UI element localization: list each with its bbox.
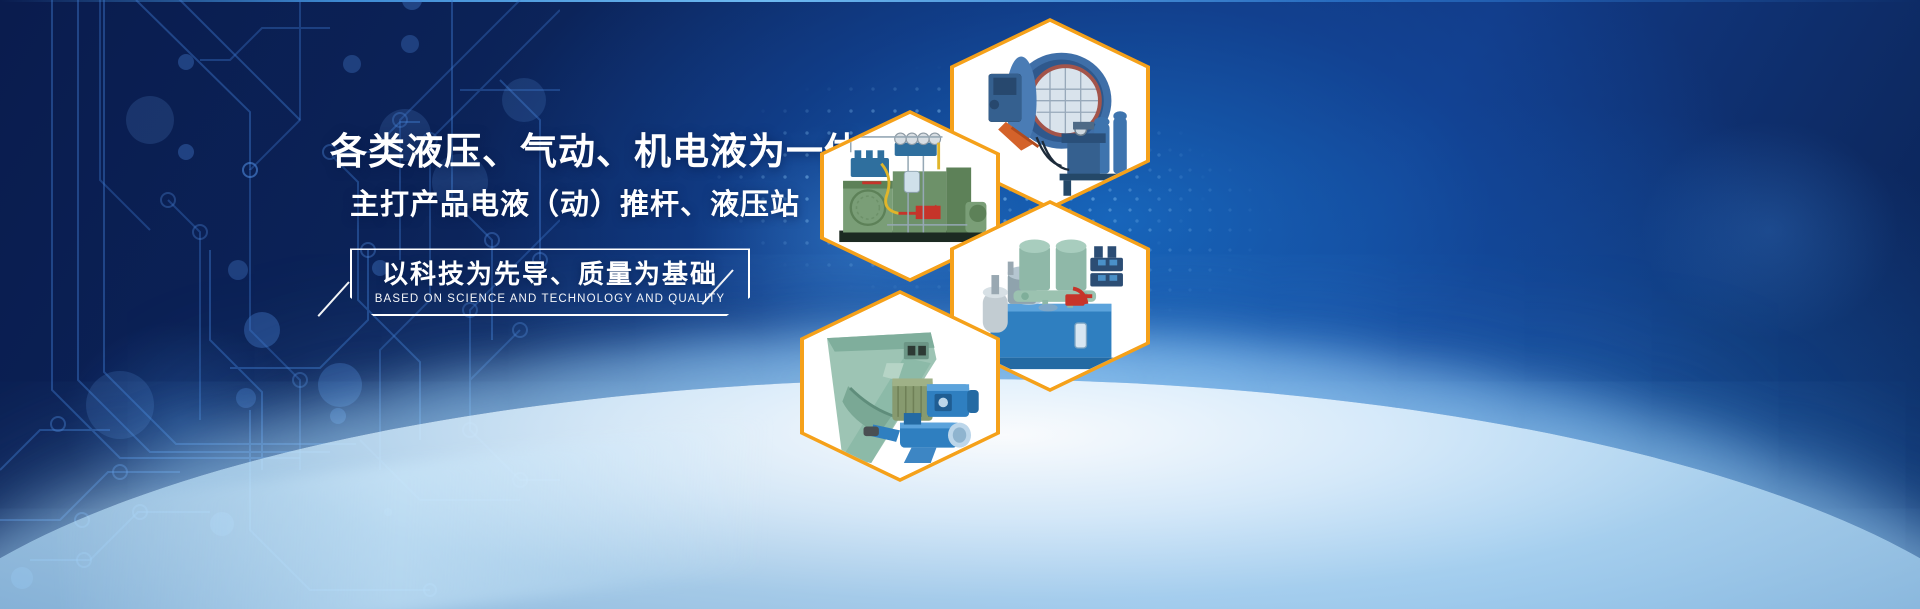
slogan-chinese: 以科技为先导、质量为基础 [382, 260, 718, 289]
headline-secondary: 主打产品电液（动）推杆、液压站 [330, 188, 800, 223]
headline-primary: 各类液压、气动、机电液为一体 [330, 130, 800, 174]
product-hexagon-cluster [780, 0, 1180, 609]
glow-accent [1640, 120, 1900, 340]
slogan-diagonal-left [317, 282, 349, 318]
slogan-box: 以科技为先导、质量为基础 BASED ON SCIENCE AND TECHNO… [350, 248, 750, 316]
slogan-english: BASED ON SCIENCE AND TECHNOLOGY AND QUAL… [375, 293, 725, 305]
slogan-container: 以科技为先导、质量为基础 BASED ON SCIENCE AND TECHNO… [330, 248, 750, 316]
banner-text-block: 各类液压、气动、机电液为一体 主打产品电液（动）推杆、液压站 以科技为先导、质量… [330, 130, 800, 316]
hero-banner: 各类液压、气动、机电液为一体 主打产品电液（动）推杆、液压站 以科技为先导、质量… [0, 0, 1920, 609]
